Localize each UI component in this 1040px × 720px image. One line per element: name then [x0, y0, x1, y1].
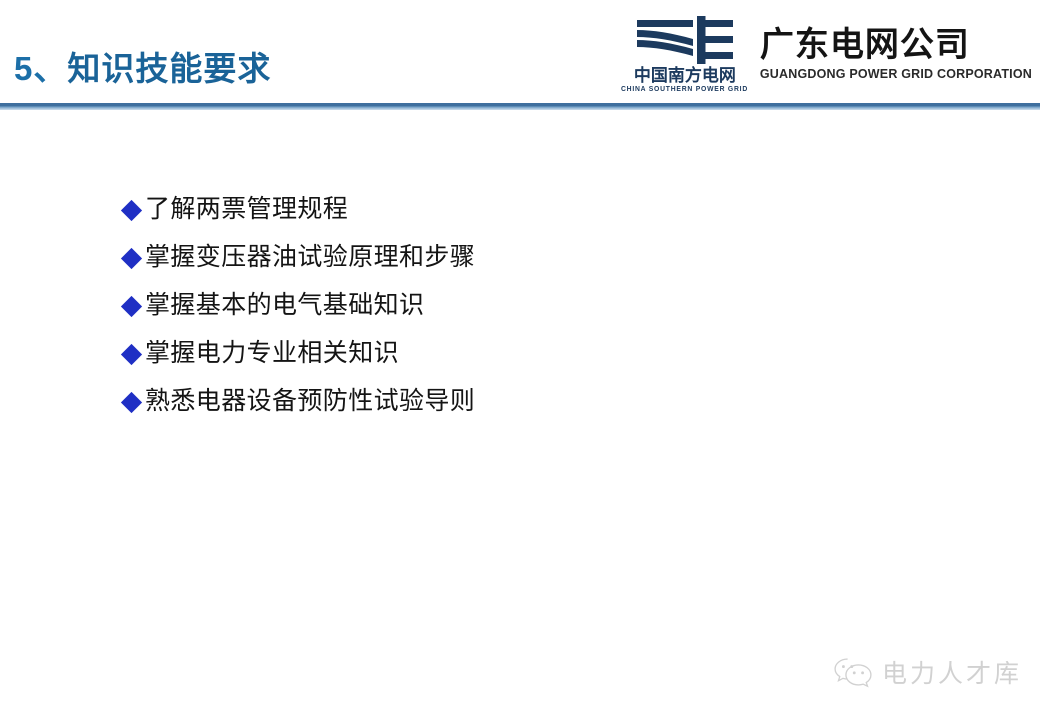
corporation-name-group: 广东电网公司 GUANGDONG POWER GRID CORPORATION [760, 12, 1032, 81]
slide-canvas: 5、知识技能要求 [0, 0, 1040, 720]
brand-logo: 中国南方电网 CHINA SOUTHERN POWER GRID 广东电网公司 … [624, 12, 1032, 100]
header-divider [0, 103, 1040, 110]
page-title-number: 5、 [14, 50, 67, 87]
corporation-en-name: GUANGDONG POWER GRID CORPORATION [760, 67, 1032, 81]
csg-logo-cn-text: 中国南方电网 [634, 67, 736, 85]
list-item-label: 掌握电力专业相关知识 [145, 340, 399, 368]
list-item-label: 掌握变压器油试验原理和步骤 [145, 244, 475, 272]
list-item: 掌握变压器油试验原理和步骤 [124, 234, 944, 282]
list-item: 掌握电力专业相关知识 [124, 330, 944, 378]
list-item: 了解两票管理规程 [124, 186, 944, 234]
diamond-bullet-icon [121, 199, 142, 220]
diamond-bullet-icon [121, 295, 142, 316]
corporation-cn-name: 广东电网公司 [760, 28, 1032, 64]
bullet-list: 了解两票管理规程 掌握变压器油试验原理和步骤 掌握基本的电气基础知识 掌握电力专… [124, 186, 944, 426]
china-southern-power-grid-logo-mark [633, 14, 737, 66]
page-title: 5、知识技能要求 [14, 52, 271, 85]
watermark-label: 电力人才库 [882, 654, 1022, 690]
watermark: 电力人才库 [833, 654, 1022, 690]
list-item-label: 熟悉电器设备预防性试验导则 [145, 388, 475, 416]
wechat-icon [833, 655, 873, 689]
list-item-label: 掌握基本的电气基础知识 [145, 292, 424, 320]
csg-logo-en-text: CHINA SOUTHERN POWER GRID [621, 86, 748, 93]
list-item-label: 了解两票管理规程 [145, 196, 348, 224]
diamond-bullet-icon [121, 391, 142, 412]
page-title-text: 知识技能要求 [67, 50, 271, 87]
diamond-bullet-icon [121, 247, 142, 268]
csg-logo-group: 中国南方电网 CHINA SOUTHERN POWER GRID [624, 12, 746, 93]
diamond-bullet-icon [121, 343, 142, 364]
list-item: 熟悉电器设备预防性试验导则 [124, 378, 944, 426]
slide-header: 5、知识技能要求 [0, 0, 1040, 110]
list-item: 掌握基本的电气基础知识 [124, 282, 944, 330]
